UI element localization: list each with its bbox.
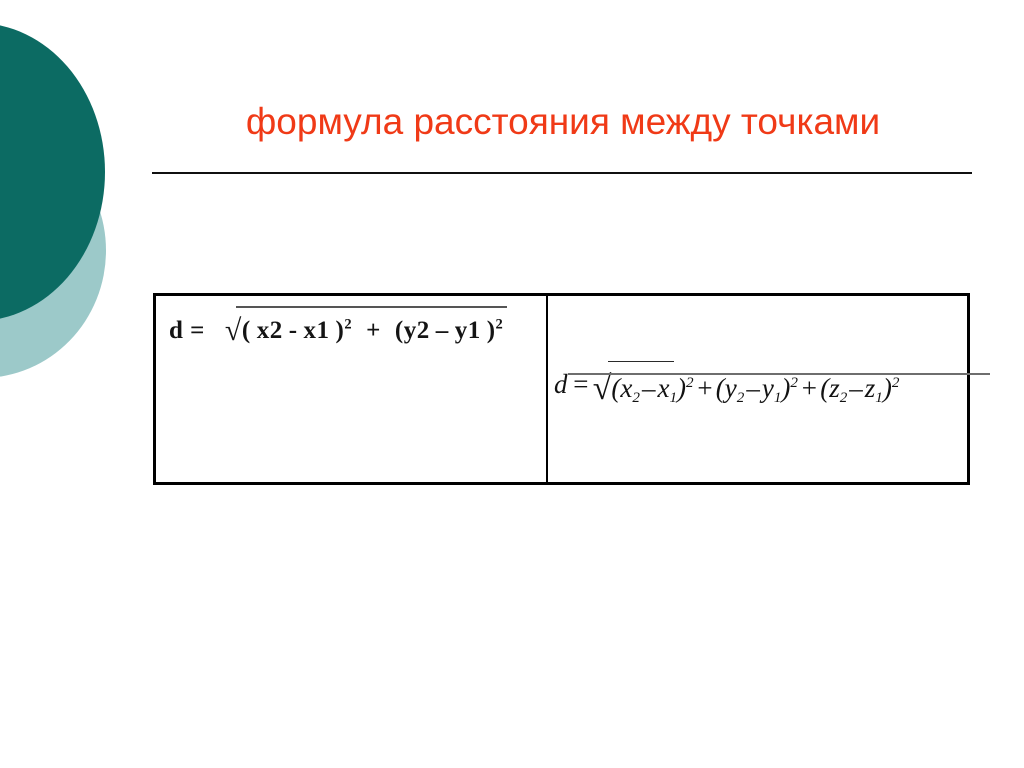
formula-2d-y2: y2	[404, 317, 430, 344]
formula-2d-y1: y1	[455, 317, 481, 344]
formula-3d-x-sub-1: 1	[669, 390, 677, 406]
formula-3d-exponent-3: 2	[892, 375, 900, 391]
radical-vinculum	[236, 306, 507, 308]
formula-distance-2d: d =√(x2-x1)2+(y2–y1)2	[169, 312, 503, 346]
formula-3d-minus-2: –	[744, 373, 762, 403]
formula-3d-lead: d	[554, 369, 568, 399]
formula-3d-minus-3: –	[847, 373, 865, 403]
table-cell-distance-2d: d =√(x2-x1)2+(y2–y1)2	[156, 296, 548, 482]
formula-3d-x-b: x	[657, 373, 669, 403]
formula-3d-z-sub-1: 1	[875, 390, 883, 406]
formula-3d-z-b: z	[865, 373, 876, 403]
formula-3d-y-b: y	[762, 373, 774, 403]
formula-3d-x-sub-2: 2	[632, 390, 640, 406]
formula-3d-exponent-1: 2	[686, 375, 694, 391]
formula-2d-exponent-1: 2	[344, 317, 352, 333]
formula-2d-radical-group: √(x2-x1)2+(y2–y1)2	[223, 312, 503, 346]
formula-2d-minus-2: –	[436, 317, 449, 344]
formula-distance-3d: d=√(x2–x1)2+(y2–y1)2+(z2–z1)2	[554, 364, 899, 403]
slide-canvas: формула расстояния между точками d =√(x2…	[0, 0, 1024, 768]
formula-3d-open-paren-2: (	[716, 373, 725, 403]
formula-2d-open-paren-2: (	[395, 317, 404, 344]
formula-3d-close-paren-1: )	[677, 373, 686, 403]
formula-3d-open-paren-3: (	[820, 373, 829, 403]
radical-sign-icon: √	[225, 314, 242, 347]
formula-3d-z-a: z	[829, 373, 840, 403]
formula-3d-body: (x2–x1)2+(y2–y1)2+(z2–z1)2	[611, 373, 899, 403]
formula-2d-lead: d =	[169, 317, 205, 344]
formula-table: d =√(x2-x1)2+(y2–y1)2 d=√(x2–x1)2+(y2–y1…	[153, 293, 970, 485]
title-underline-rule	[152, 172, 972, 174]
formula-3d-y-a: y	[725, 373, 737, 403]
radical-sign-icon: √	[593, 370, 612, 407]
radical-vinculum	[608, 361, 674, 362]
formula-2d-open-paren-1: (	[242, 317, 251, 344]
formula-2d-close-paren-2: )	[487, 317, 496, 344]
formula-2d-x1: x1	[304, 317, 330, 344]
equation-overrun-rule	[568, 373, 990, 375]
formula-2d-x2: x2	[257, 317, 283, 344]
formula-3d-minus-1: –	[640, 373, 658, 403]
table-cell-distance-3d: d=√(x2–x1)2+(y2–y1)2+(z2–z1)2	[548, 296, 967, 482]
formula-2d-exponent-2: 2	[496, 317, 504, 333]
formula-3d-exponent-2: 2	[790, 375, 798, 391]
formula-2d-plus: +	[366, 317, 381, 344]
formula-3d-close-paren-3: )	[883, 373, 892, 403]
formula-3d-radical-group: √(x2–x1)2+(y2–y1)2+(z2–z1)2	[592, 364, 900, 403]
slide-title: формула расстояния между точками	[152, 98, 974, 158]
formula-3d-plus-1: +	[694, 373, 716, 403]
formula-3d-x-a: x	[620, 373, 632, 403]
formula-3d-plus-2: +	[798, 373, 820, 403]
formula-2d-minus-1: -	[289, 317, 298, 344]
